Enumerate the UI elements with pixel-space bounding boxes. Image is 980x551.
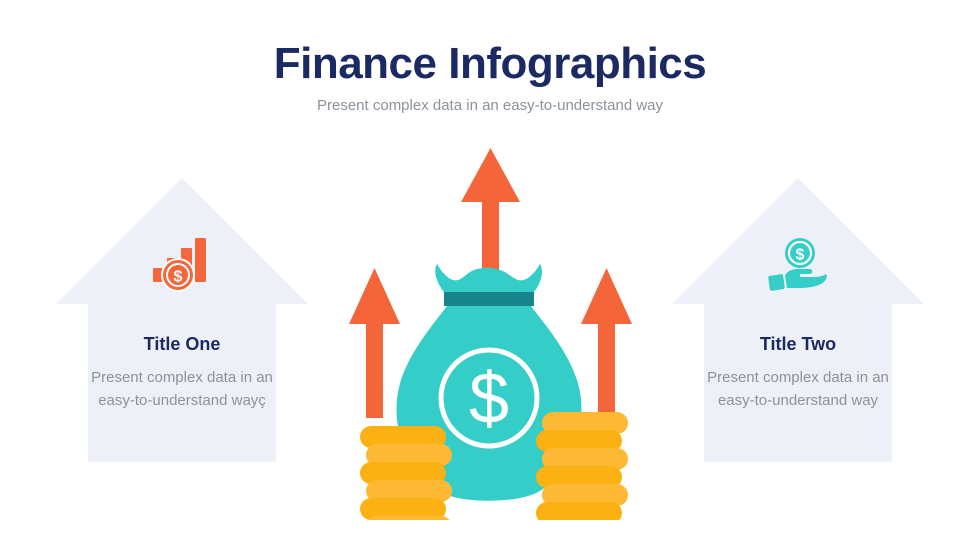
- header: Finance Infographics Present complex dat…: [0, 38, 980, 116]
- growth-arrow-left: [349, 268, 400, 418]
- growth-arrow-right: [581, 268, 632, 418]
- panel-one[interactable]: $ Title One Present complex data in an e…: [54, 176, 310, 466]
- money-bag-growth-illustration: $: [340, 140, 640, 520]
- page-title: Finance Infographics: [0, 38, 980, 90]
- arrow-house-shape-left: [54, 176, 310, 466]
- arrow-house-shape-right: [670, 176, 926, 466]
- page-subtitle: Present complex data in an easy-to-under…: [0, 96, 980, 116]
- slide-canvas: Finance Infographics Present complex dat…: [0, 0, 980, 551]
- panel-one-title: Title One: [54, 334, 310, 355]
- panel-two-icon-wrap: $: [670, 236, 926, 296]
- svg-text:$: $: [796, 247, 805, 264]
- bar-chart-dollar-icon: $: [151, 236, 213, 294]
- panel-one-icon-wrap: $: [54, 236, 310, 296]
- money-bag-growth-svg: $: [340, 140, 640, 520]
- coin-stack-left: [360, 426, 452, 520]
- panel-two-title: Title Two: [670, 334, 926, 355]
- panel-one-text: Present complex data in an easy-to-under…: [82, 366, 282, 412]
- growth-arrow-center: [461, 148, 520, 285]
- bag-dollar-symbol: $: [469, 359, 509, 439]
- panel-two[interactable]: $ Title Two Present complex data in an e…: [670, 176, 926, 466]
- coin-stack-right: [536, 412, 628, 520]
- hand-holding-coin-icon: $: [767, 236, 829, 294]
- panel-two-text: Present complex data in an easy-to-under…: [698, 366, 898, 412]
- svg-text:$: $: [174, 269, 183, 286]
